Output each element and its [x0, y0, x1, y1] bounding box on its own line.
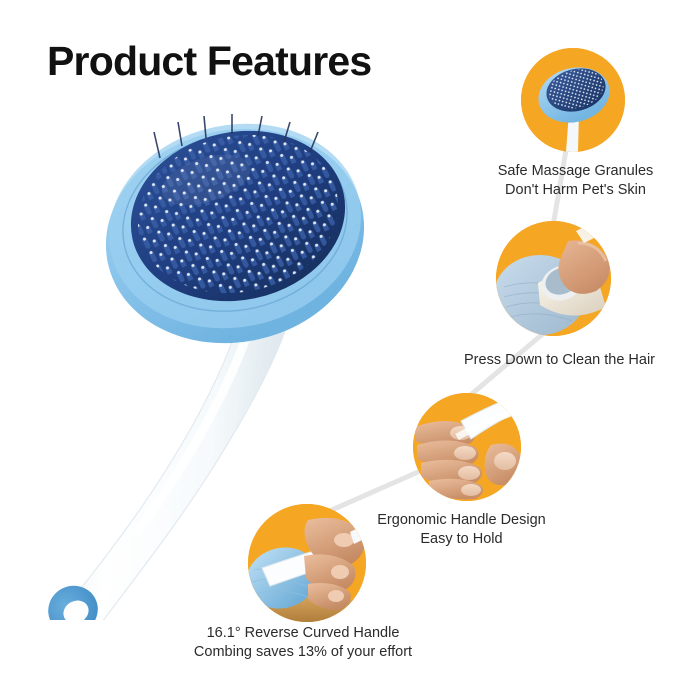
- brush-head-closeup-photo-icon: [521, 48, 625, 152]
- callout-caption-press-clean: Press Down to Clean the Hair: [440, 351, 679, 370]
- brushing-cat-photo-icon: [248, 504, 366, 622]
- page-title: Product Features: [47, 38, 371, 85]
- product-features-infographic: Product Features: [0, 0, 679, 679]
- callout-caption-reverse-handle: 16.1° Reverse Curved Handle Combing save…: [178, 624, 428, 662]
- hand-holding-handle-photo-icon: [413, 393, 521, 501]
- callout-caption-ergonomic-handle: Ergonomic Handle Design Easy to Hold: [362, 511, 561, 549]
- thumb-pressing-button-photo-icon: [496, 221, 611, 336]
- callout-caption-massage-granules: Safe Massage Granules Don't Harm Pet's S…: [478, 162, 673, 200]
